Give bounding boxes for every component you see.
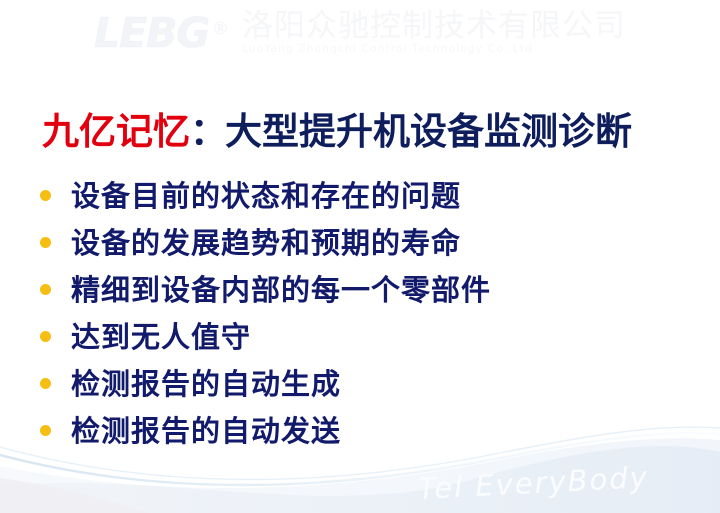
list-item: 设备目前的状态和存在的问题 [36, 172, 696, 219]
bullet-label: 检测报告的自动生成 [71, 367, 341, 401]
lebg-logo: LEBG ® [94, 13, 228, 53]
bullet-dot-icon [40, 425, 51, 436]
company-name-en: LuoYang Zhongchi Control Technology Co.,… [242, 43, 626, 56]
bullet-dot-icon [40, 378, 51, 389]
list-item: 检测报告的自动发送 [36, 407, 696, 454]
list-item: 检测报告的自动生成 [36, 360, 696, 407]
bullet-list: 设备目前的状态和存在的问题 设备的发展趋势和预期的寿命 精细到设备内部的每一个零… [36, 172, 696, 454]
wave-corner-wedge [0, 478, 150, 513]
company-name-cn: 洛阳众驰控制技术有限公司 [242, 10, 626, 42]
bullet-label: 检测报告的自动发送 [71, 414, 341, 448]
bullet-label: 精细到设备内部的每一个零部件 [71, 273, 491, 307]
company-watermark: LEBG ® 洛阳众驰控制技术有限公司 LuoYang Zhongchi Con… [0, 4, 720, 62]
bullet-label: 达到无人值守 [71, 320, 251, 354]
registered-trademark-icon: ® [212, 19, 229, 39]
bullet-label: 设备目前的状态和存在的问题 [71, 179, 461, 213]
presentation-slide: LEBG ® 洛阳众驰控制技术有限公司 LuoYang Zhongchi Con… [0, 0, 720, 513]
list-item: 设备的发展趋势和预期的寿命 [36, 219, 696, 266]
bullet-dot-icon [40, 237, 51, 248]
list-item: 达到无人值守 [36, 313, 696, 360]
slide-title: 九亿记忆：大型提升机设备监测诊断 [42, 107, 702, 155]
logo-wordmark: LEBG [94, 13, 209, 53]
bullet-label: 设备的发展趋势和预期的寿命 [71, 226, 461, 260]
company-name-block: 洛阳众驰控制技术有限公司 LuoYang Zhongchi Control Te… [242, 10, 626, 56]
title-highlight: 九亿记忆 [42, 109, 190, 153]
bullet-dot-icon [40, 331, 51, 342]
title-main: 大型提升机设备监测诊断 [225, 109, 632, 153]
bullet-dot-icon [40, 190, 51, 201]
title-colon: ： [190, 109, 225, 153]
footer-script-text: Tel EveryBody [417, 460, 649, 506]
list-item: 精细到设备内部的每一个零部件 [36, 266, 696, 313]
bullet-dot-icon [40, 284, 51, 295]
